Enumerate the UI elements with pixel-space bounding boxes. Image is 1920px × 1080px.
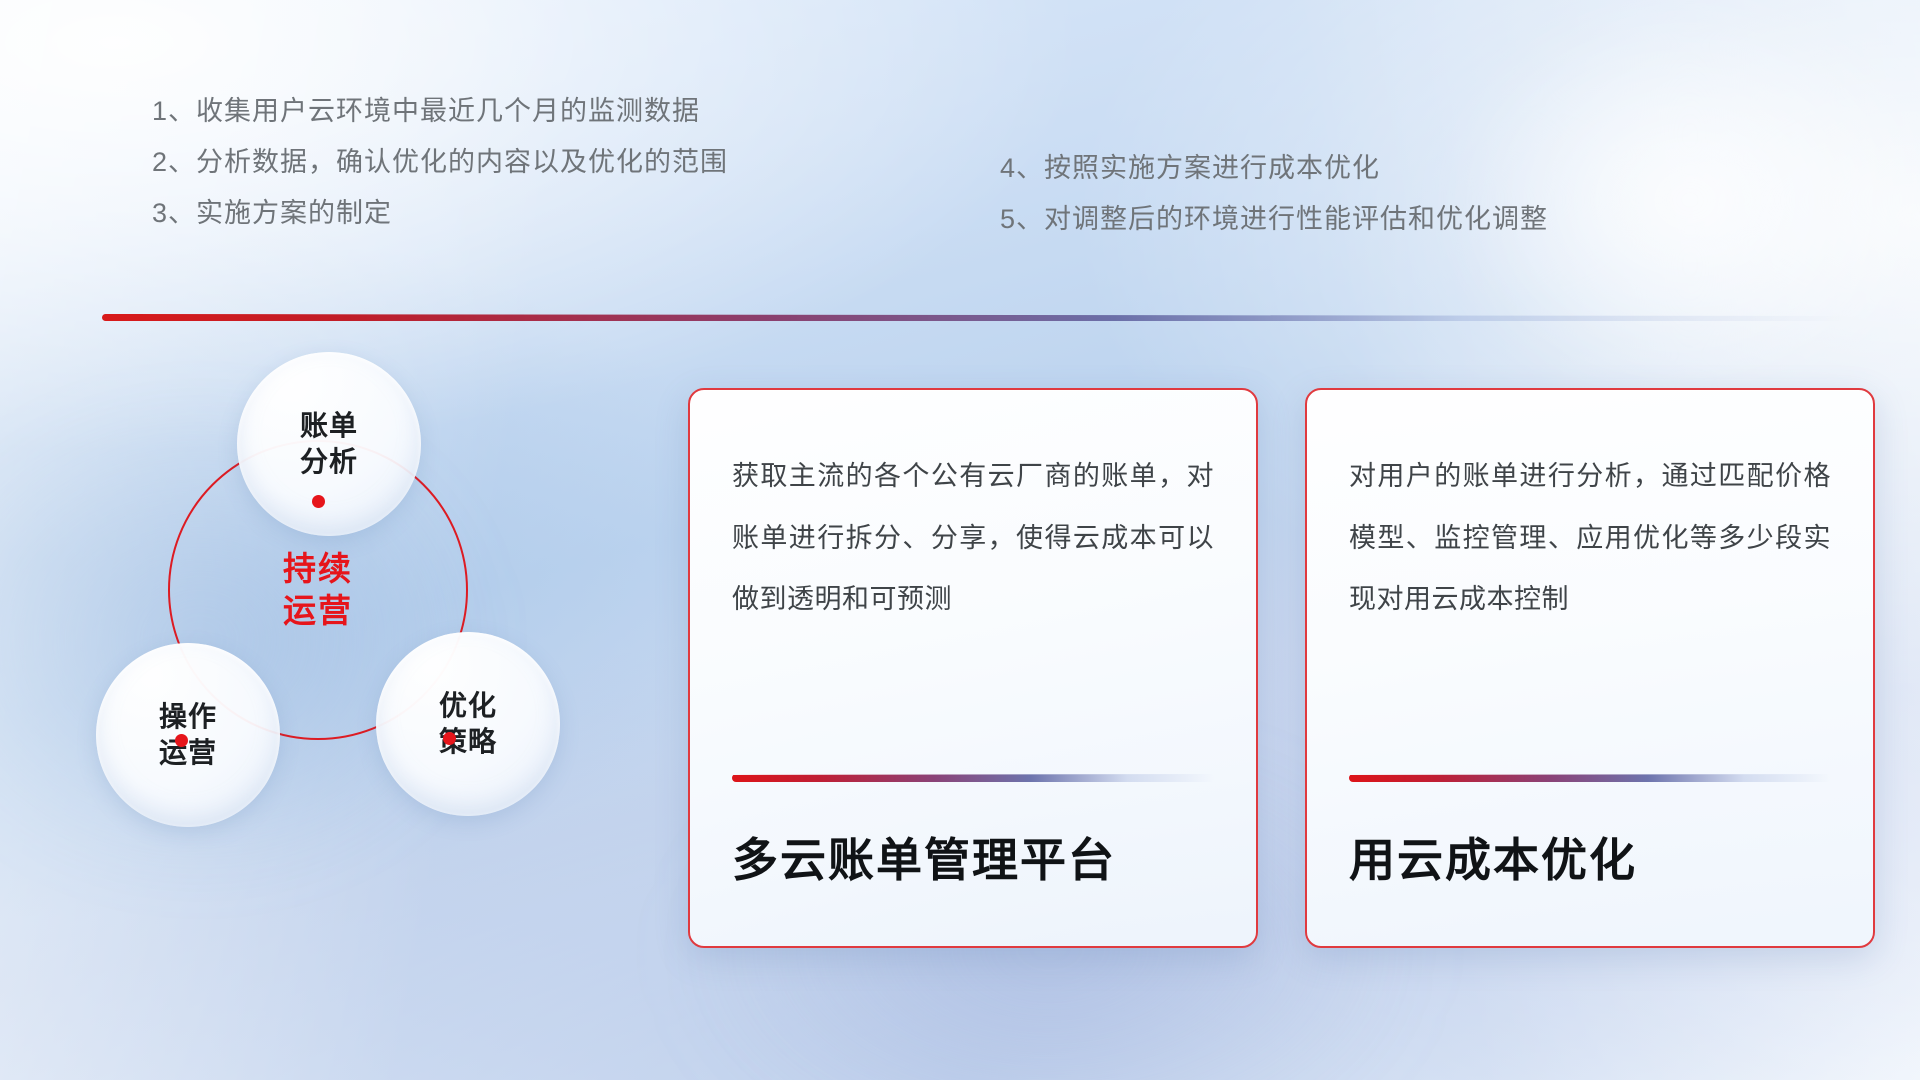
card-divider <box>1349 774 1831 782</box>
venn-node-operations[interactable]: 操作 运营 <box>96 643 280 827</box>
info-card-cost-optimization[interactable]: 对用户的账单进行分析，通过匹配价格模型、监控管理、应用优化等多少段实现对用云成本… <box>1305 388 1875 948</box>
connector-dot-bottom-left <box>175 734 188 747</box>
venn-node-label-line1: 操作 <box>159 699 217 735</box>
step-item: 1、收集用户云环境中最近几个月的监测数据 <box>152 98 728 125</box>
venn-node-label-line2: 分析 <box>300 444 358 480</box>
venn-node-label-line1: 优化 <box>439 688 497 724</box>
card-divider <box>732 774 1214 782</box>
card-body-text: 获取主流的各个公有云厂商的账单，对账单进行拆分、分享，使得云成本可以做到透明和可… <box>732 446 1214 631</box>
info-card-multicloud-billing[interactable]: 获取主流的各个公有云厂商的账单，对账单进行拆分、分享，使得云成本可以做到透明和可… <box>688 388 1258 948</box>
connector-dot-top <box>312 495 325 508</box>
card-title: 多云账单管理平台 <box>732 782 1214 946</box>
card-body-text: 对用户的账单进行分析，通过匹配价格模型、监控管理、应用优化等多少段实现对用云成本… <box>1349 446 1831 631</box>
step-item: 2、分析数据，确认优化的内容以及优化的范围 <box>152 149 728 176</box>
step-item: 3、实施方案的制定 <box>152 200 728 227</box>
venn-node-label-line1: 账单 <box>300 408 358 444</box>
steps-list-right: 4、按照实施方案进行成本优化 5、对调整后的环境进行性能评估和优化调整 <box>1000 155 1548 257</box>
venn-node-billing-analysis[interactable]: 账单 分析 <box>237 352 421 536</box>
step-item: 5、对调整后的环境进行性能评估和优化调整 <box>1000 206 1548 233</box>
steps-list-left: 1、收集用户云环境中最近几个月的监测数据 2、分析数据，确认优化的内容以及优化的… <box>152 98 728 251</box>
venn-diagram: 账单 分析 操作 运营 优化 策略 持续 运营 <box>96 352 646 942</box>
connector-dot-bottom-right <box>443 732 456 745</box>
card-title: 用云成本优化 <box>1349 782 1831 946</box>
step-item: 4、按照实施方案进行成本优化 <box>1000 155 1548 182</box>
venn-node-optimization-strategy[interactable]: 优化 策略 <box>376 632 560 816</box>
